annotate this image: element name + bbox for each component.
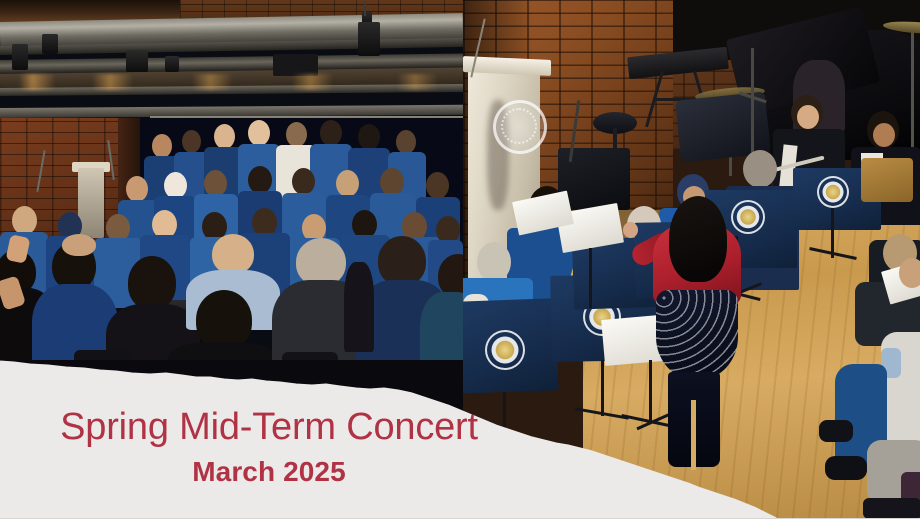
stage-lamp-icon	[126, 50, 148, 72]
caption-block: Spring Mid-Term Concert March 2025	[0, 405, 538, 489]
music-stand-pole	[649, 360, 652, 422]
concert-poster: Spring Mid-Term Concert March 2025	[0, 0, 920, 519]
school-crest-icon	[485, 330, 525, 370]
stage-lamp-icon	[42, 34, 58, 54]
speaker-box	[273, 54, 318, 76]
page-title: Spring Mid-Term Concert	[0, 405, 538, 449]
stage-lamp-icon	[165, 56, 179, 72]
lamp-cable	[364, 2, 366, 16]
conductor-skirt	[656, 290, 738, 380]
conductor-hair	[669, 196, 727, 282]
chair	[861, 158, 913, 202]
music-stand-pole	[601, 360, 604, 416]
stage-lamp-icon	[12, 44, 28, 70]
stage-lamp-icon	[358, 22, 380, 56]
music-stand-pole	[589, 248, 592, 308]
page-subtitle: March 2025	[0, 455, 538, 489]
stage-uplights	[10, 74, 463, 90]
audience-right	[763, 240, 920, 519]
school-crest-inner	[501, 108, 537, 144]
conductor-leg-gap	[691, 400, 696, 470]
mic-stand	[751, 48, 754, 158]
conductor-hand	[623, 222, 638, 238]
school-crest-icon	[731, 200, 765, 234]
school-crest-icon	[817, 176, 849, 208]
